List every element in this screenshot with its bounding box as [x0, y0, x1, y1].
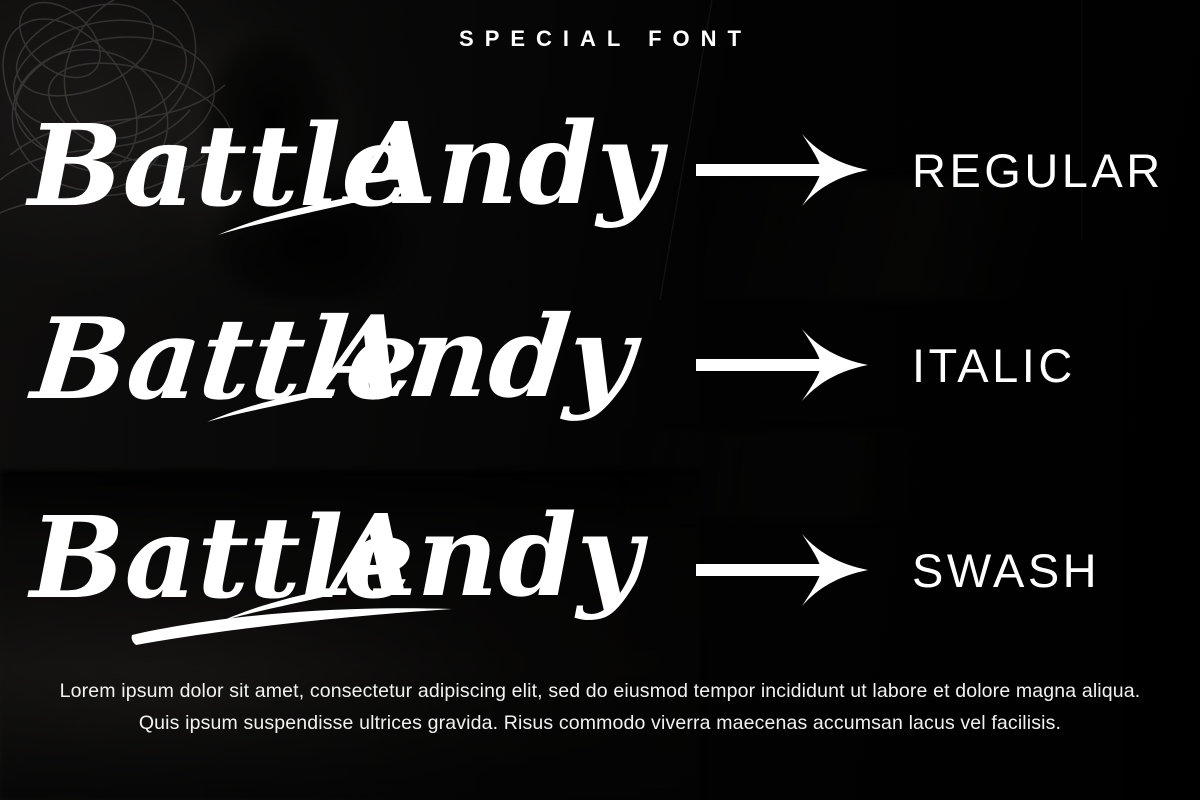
style-label-regular: REGULAR: [882, 147, 1200, 194]
page-title: SPECIAL FONT: [0, 28, 1200, 50]
style-label-swash: SWASH: [882, 547, 1200, 594]
specimen-artwork-swash: Battle Andy: [0, 485, 690, 655]
font-specimen-poster: SPECIAL FONT Battle Andy REGULAR: [0, 0, 1200, 800]
poster-content: SPECIAL FONT Battle Andy REGULAR: [0, 0, 1200, 800]
specimen-row-swash: Battle Andy SWASH: [0, 485, 1200, 655]
specimen-word-andy: Andy: [341, 99, 669, 230]
specimen-word-andy: Andy: [321, 491, 649, 622]
description-paragraph: Lorem ipsum dolor sit amet, consectetur …: [50, 676, 1150, 739]
arrow-right-icon: [692, 325, 882, 405]
specimen-row-regular: Battle Andy REGULAR: [0, 85, 1200, 255]
arrow-right-icon: [692, 130, 882, 210]
specimen-word-andy: Andy: [306, 292, 647, 423]
style-label-italic: ITALIC: [882, 342, 1200, 389]
specimen-artwork-italic: Battle Andy: [0, 280, 690, 450]
specimen-artwork-regular: Battle Andy: [0, 85, 690, 255]
arrow-right-icon: [692, 530, 882, 610]
specimen-row-italic: Battle Andy ITALIC: [0, 280, 1200, 450]
